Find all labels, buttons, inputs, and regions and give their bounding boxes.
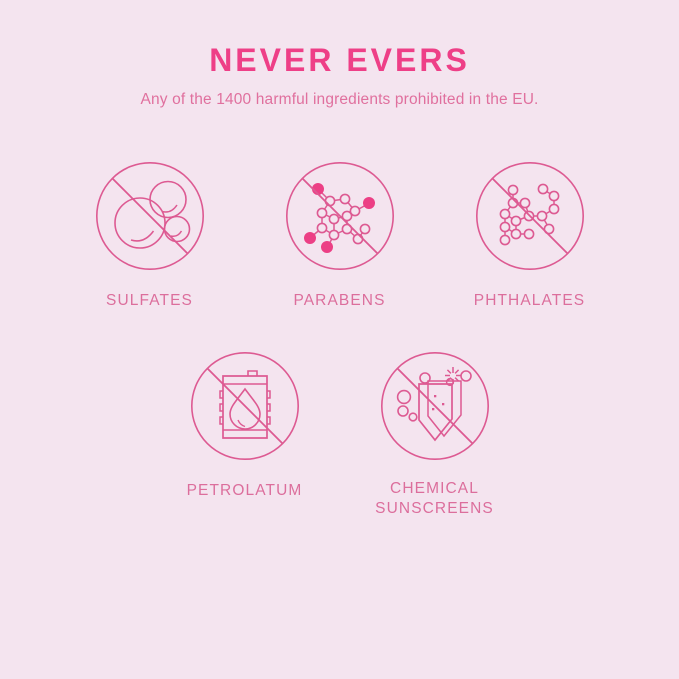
- badge-row-2: PETROLATUM: [0, 351, 679, 519]
- never-evers-infographic: NEVER EVERS Any of the 1400 harmful ingr…: [0, 0, 679, 679]
- badge-label-parabens: PARABENS: [293, 291, 385, 311]
- no-phthalates-molecule-icon: [475, 161, 585, 271]
- page-title: NEVER EVERS: [0, 44, 679, 78]
- badge-label-petrolatum: PETROLATUM: [187, 481, 303, 501]
- no-petrolatum-barrel-icon: [190, 351, 300, 461]
- badge-label-chemical-sunscreens: CHEMICAL SUNSCREENS: [375, 479, 494, 519]
- header: NEVER EVERS Any of the 1400 harmful ingr…: [0, 0, 679, 109]
- no-parabens-molecule-icon: [285, 161, 395, 271]
- badge-label-sulfates: SULFATES: [106, 291, 193, 311]
- badge-label-phthalates: PHTHALATES: [474, 291, 586, 311]
- page-subtitle: Any of the 1400 harmful ingredients proh…: [0, 91, 679, 110]
- badge-phthalates: PHTHALATES: [475, 161, 585, 311]
- badge-grid: SULFATES: [0, 161, 679, 519]
- badge-row-1: SULFATES: [0, 161, 679, 311]
- badge-petrolatum: PETROLATUM: [190, 351, 300, 501]
- no-chemical-sunscreens-icon: [380, 351, 490, 461]
- no-sulfates-bubbles-icon: [95, 161, 205, 271]
- badge-chemical-sunscreens: CHEMICAL SUNSCREENS: [380, 351, 490, 519]
- badge-parabens: PARABENS: [285, 161, 395, 311]
- badge-sulfates: SULFATES: [95, 161, 205, 311]
